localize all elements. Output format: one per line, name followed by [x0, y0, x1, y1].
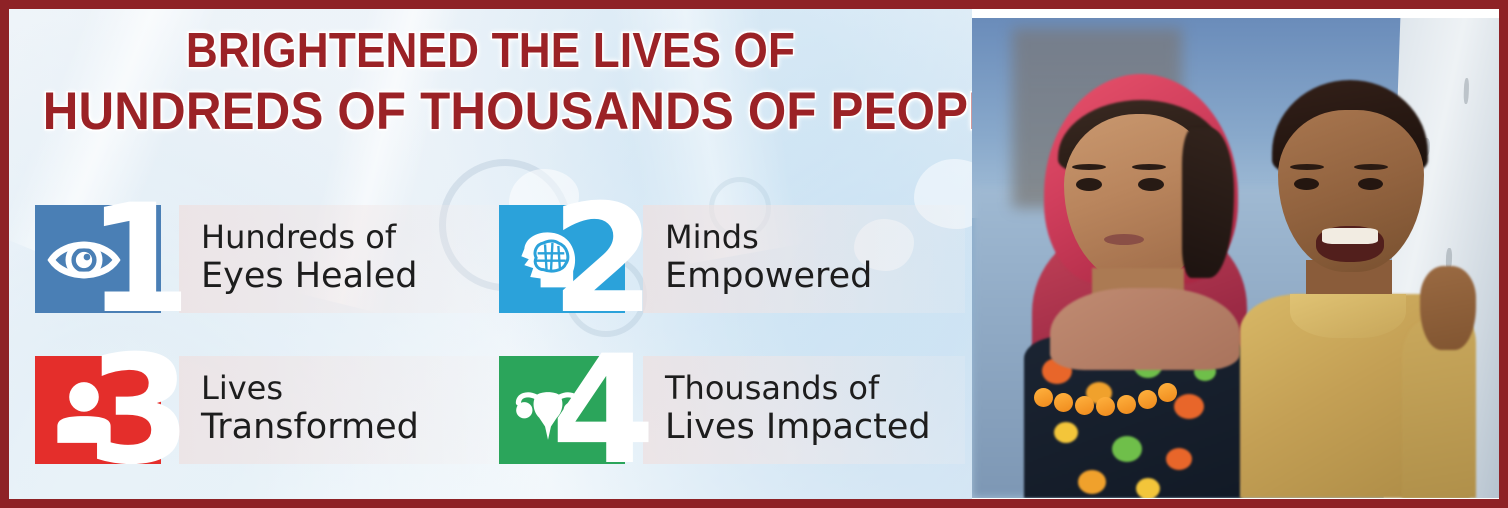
two-children-photo [972, 18, 1499, 498]
photo-boy-teeth [1322, 228, 1378, 244]
photo-boy-eyebrow [1290, 164, 1324, 170]
photo-boy-hand [1420, 266, 1476, 350]
stat-badge: 3 [35, 356, 161, 464]
stat-line-1: Thousands of [665, 370, 965, 407]
stat-card-lives-transformed[interactable]: 3 Lives Transformed [35, 356, 499, 464]
eye-icon [47, 225, 121, 295]
photo-girl-eyebrow [1132, 164, 1166, 170]
stat-badge: 4 [499, 356, 625, 464]
stat-text: Hundreds of Eyes Healed [179, 205, 499, 313]
stat-card-row: 1 Hundreds of Eyes Healed [35, 205, 965, 313]
photo-girl-eye [1138, 178, 1164, 191]
stat-line-2: Transformed [201, 407, 499, 448]
photo-girl-eyebrow [1072, 164, 1106, 170]
photo-boy-eyebrow [1354, 164, 1388, 170]
stat-card-minds-empowered[interactable]: 2 Minds Empowered [499, 205, 965, 313]
impact-banner: BRIGHTENED THE LIVES OF HUNDREDS OF THOU… [0, 0, 1508, 508]
stat-card-grid: 1 Hundreds of Eyes Healed [35, 205, 965, 499]
stat-text: Thousands of Lives Impacted [643, 356, 965, 464]
stat-line-1: Minds [665, 219, 965, 256]
stat-line-2: Eyes Healed [201, 256, 499, 297]
stat-line-2: Lives Impacted [665, 407, 965, 448]
photo-girl-shawl [1050, 288, 1240, 370]
photo-boy-eye [1358, 178, 1383, 190]
person-icon [47, 376, 121, 446]
photo-girl-mouth [1104, 234, 1144, 245]
stat-badge: 1 [35, 205, 161, 313]
stat-card-row: 3 Lives Transformed [35, 356, 965, 464]
stat-card-eyes-healed[interactable]: 1 Hundreds of Eyes Healed [35, 205, 499, 313]
stat-card-lives-impacted[interactable]: 4 Thousands of Lives Impacted [499, 356, 965, 464]
stat-line-1: Hundreds of [201, 219, 499, 256]
head-brain-icon [511, 225, 585, 295]
stat-line-1: Lives [201, 370, 499, 407]
content-pane: BRIGHTENED THE LIVES OF HUNDREDS OF THOU… [9, 9, 972, 499]
stat-badge: 2 [499, 205, 625, 313]
photo-boy-eye [1294, 178, 1319, 190]
photo-girl-bead-necklace [1034, 374, 1184, 404]
headline: BRIGHTENED THE LIVES OF HUNDREDS OF THOU… [9, 27, 972, 139]
headline-line-1: BRIGHTENED THE LIVES OF [57, 27, 924, 77]
stat-line-2: Empowered [665, 256, 965, 297]
headline-line-2: HUNDREDS OF THOUSANDS OF PEOPLE [43, 85, 939, 139]
stat-text: Minds Empowered [643, 205, 965, 313]
uterus-icon [511, 376, 585, 446]
photo-girl-eye [1076, 178, 1102, 191]
photo-boy-collar [1290, 294, 1406, 338]
stat-text: Lives Transformed [179, 356, 499, 464]
